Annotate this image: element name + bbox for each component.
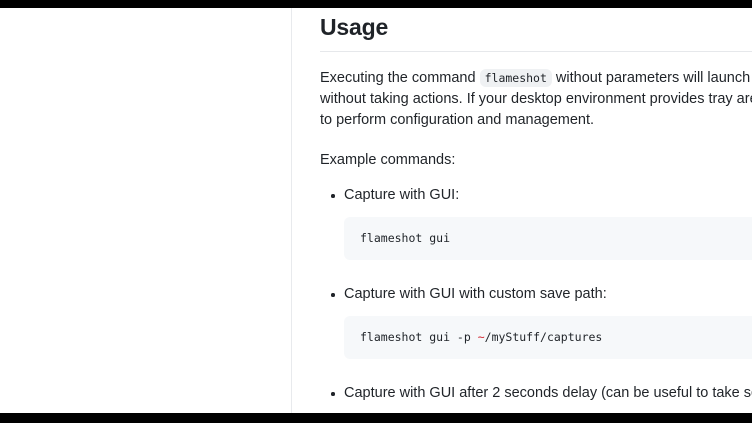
bullet-dot-icon bbox=[331, 293, 335, 297]
letterbox-bar-bottom bbox=[0, 413, 752, 423]
bullet-dot-icon bbox=[331, 194, 335, 198]
intro-paragraph-line-3: to perform configuration and management. bbox=[320, 110, 752, 131]
inline-code-flameshot: flameshot bbox=[480, 69, 552, 87]
list-item-label: Capture with GUI after 2 seconds delay (… bbox=[344, 383, 752, 404]
code-suffix: /myStuff/captures bbox=[485, 330, 603, 344]
intro-line-3-text: to perform configuration and management. bbox=[320, 112, 594, 128]
intro-line-2-text: without taking actions. If your desktop … bbox=[320, 91, 752, 107]
intro-paragraph-line-1: Executing the command flameshot without … bbox=[320, 68, 752, 89]
code-block[interactable]: flameshot gui bbox=[344, 217, 752, 260]
example-command-list: Capture with GUI: flameshot gui Capture … bbox=[320, 185, 752, 413]
screenshot-root: Usage Executing the command flameshot wi… bbox=[0, 0, 752, 423]
list-item-label: Capture with GUI with custom save path: bbox=[344, 284, 752, 305]
list-item: Capture with GUI: flameshot gui bbox=[320, 185, 752, 260]
list-item-label: Capture with GUI: bbox=[344, 185, 752, 206]
intro-paragraph-line-2: without taking actions. If your desktop … bbox=[320, 89, 752, 110]
code-block-content: flameshot gui -p ~/myStuff/captures bbox=[360, 329, 752, 346]
article-column: Usage Executing the command flameshot wi… bbox=[292, 8, 752, 413]
code-prefix: flameshot gui -p bbox=[360, 330, 478, 344]
code-block-content: flameshot gui bbox=[360, 230, 752, 247]
left-gutter-column bbox=[0, 8, 291, 413]
example-commands-lead: Example commands: bbox=[320, 150, 752, 171]
intro-text-after-code: without parameters will launch a ru bbox=[552, 70, 752, 86]
list-item: Capture with GUI after 2 seconds delay (… bbox=[320, 383, 752, 413]
list-item: Capture with GUI with custom save path: … bbox=[320, 284, 752, 359]
letterbox-bar-top bbox=[0, 0, 752, 8]
page-title: Usage bbox=[320, 8, 752, 40]
title-divider bbox=[320, 51, 752, 52]
intro-text-before-code: Executing the command bbox=[320, 70, 480, 86]
bullet-dot-icon bbox=[331, 392, 335, 396]
page-body: Usage Executing the command flameshot wi… bbox=[0, 8, 752, 413]
code-prefix: flameshot gui bbox=[360, 231, 450, 245]
code-path-marker: ~ bbox=[478, 330, 485, 344]
code-block[interactable]: flameshot gui -p ~/myStuff/captures bbox=[344, 316, 752, 359]
article-content: Usage Executing the command flameshot wi… bbox=[320, 8, 752, 413]
